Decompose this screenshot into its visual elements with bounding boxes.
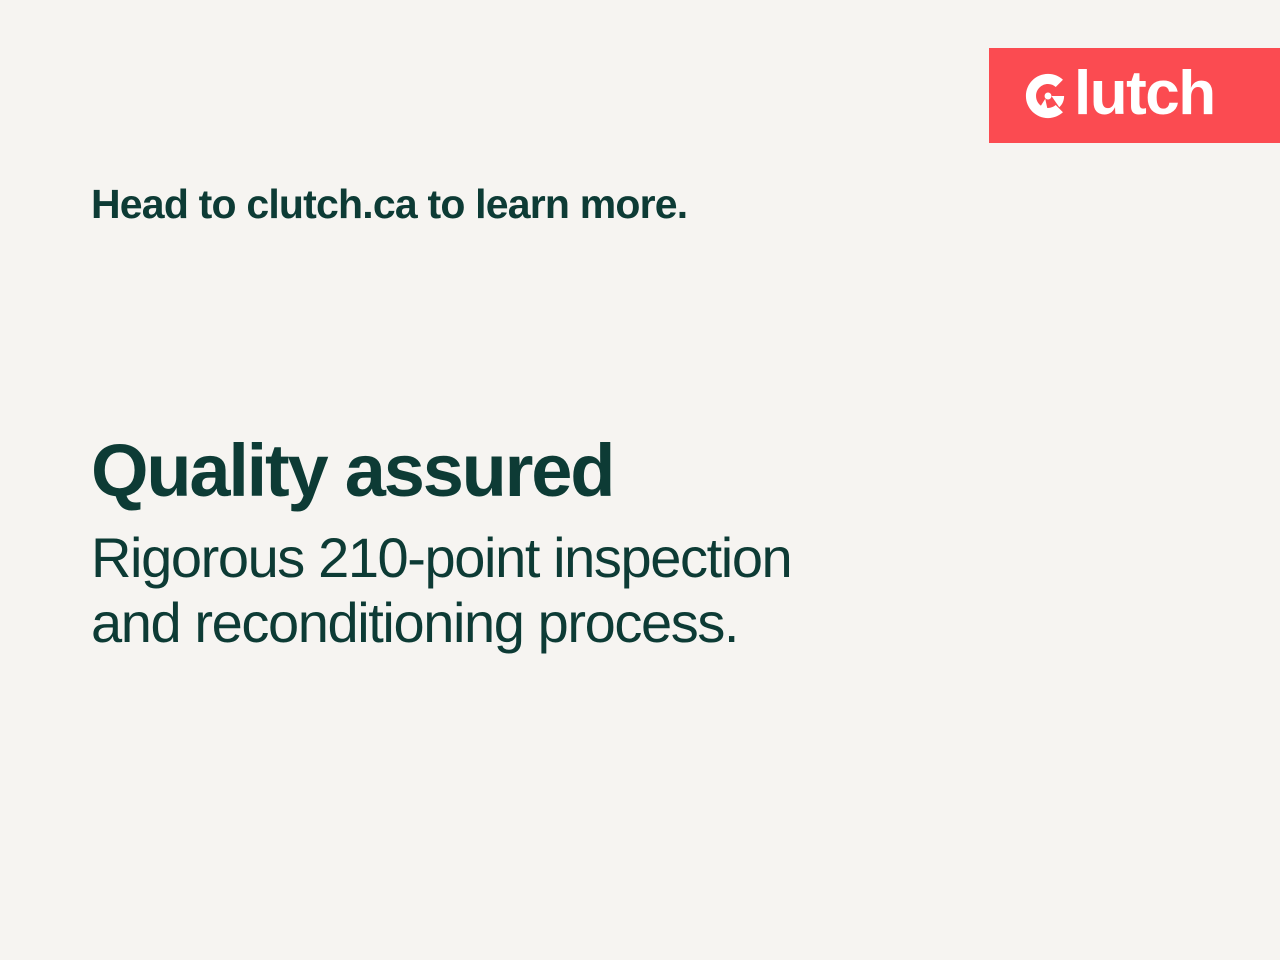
page-title: Quality assured bbox=[91, 432, 991, 510]
brand-wordmark: lutch bbox=[1074, 63, 1215, 125]
slide-canvas: lutch Head to clutch.ca to learn more. Q… bbox=[0, 0, 1280, 960]
copy-block: Quality assured Rigorous 210-point inspe… bbox=[91, 432, 991, 656]
subcopy-line-1: Rigorous 210-point inspection bbox=[91, 526, 991, 591]
subcopy: Rigorous 210-point inspection and recond… bbox=[91, 526, 991, 656]
clutch-c-mark-icon bbox=[1025, 73, 1071, 119]
brand-badge[interactable]: lutch bbox=[989, 48, 1280, 143]
subcopy-line-2: and reconditioning process. bbox=[91, 591, 991, 656]
lead-line: Head to clutch.ca to learn more. bbox=[91, 181, 687, 228]
clutch-logo[interactable]: lutch bbox=[1025, 65, 1215, 127]
